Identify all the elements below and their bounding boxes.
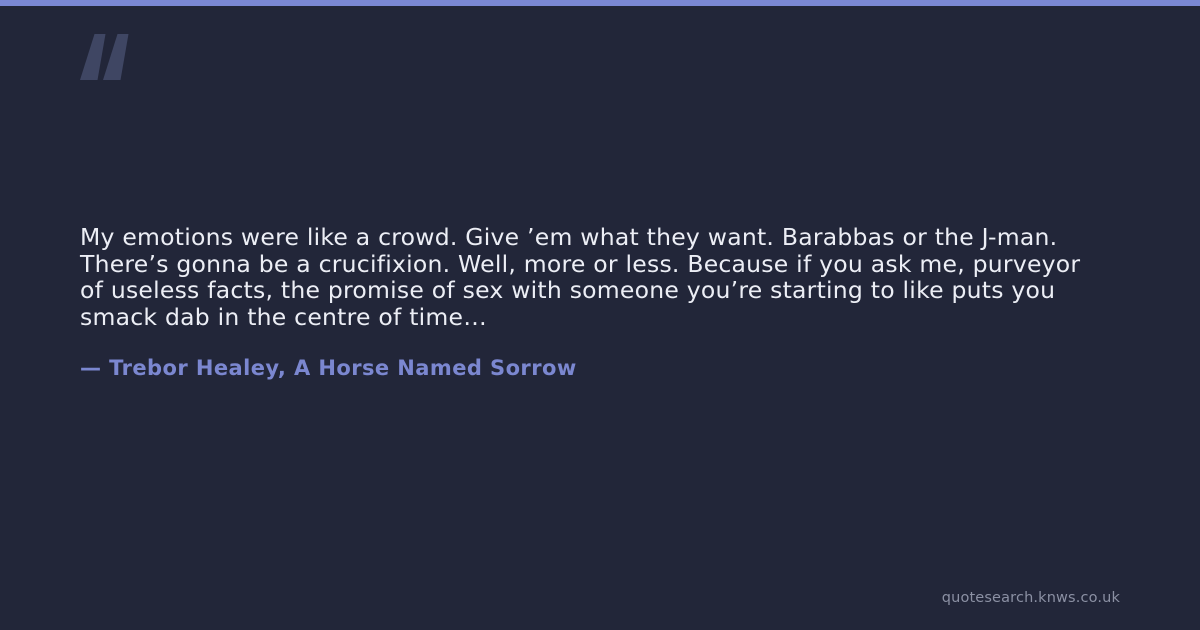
open-quote-icon (80, 34, 136, 80)
quote-card: My emotions were like a crowd. Give ’em … (0, 0, 1200, 630)
quote-body: My emotions were like a crowd. Give ’em … (80, 224, 1110, 330)
top-accent-bar (0, 0, 1200, 6)
footer-site-url: quotesearch.knws.co.uk (942, 588, 1120, 608)
quote-text: My emotions were like a crowd. Give ’em … (80, 224, 1110, 330)
quote-attribution: — Trebor Healey, A Horse Named Sorrow (80, 354, 577, 382)
